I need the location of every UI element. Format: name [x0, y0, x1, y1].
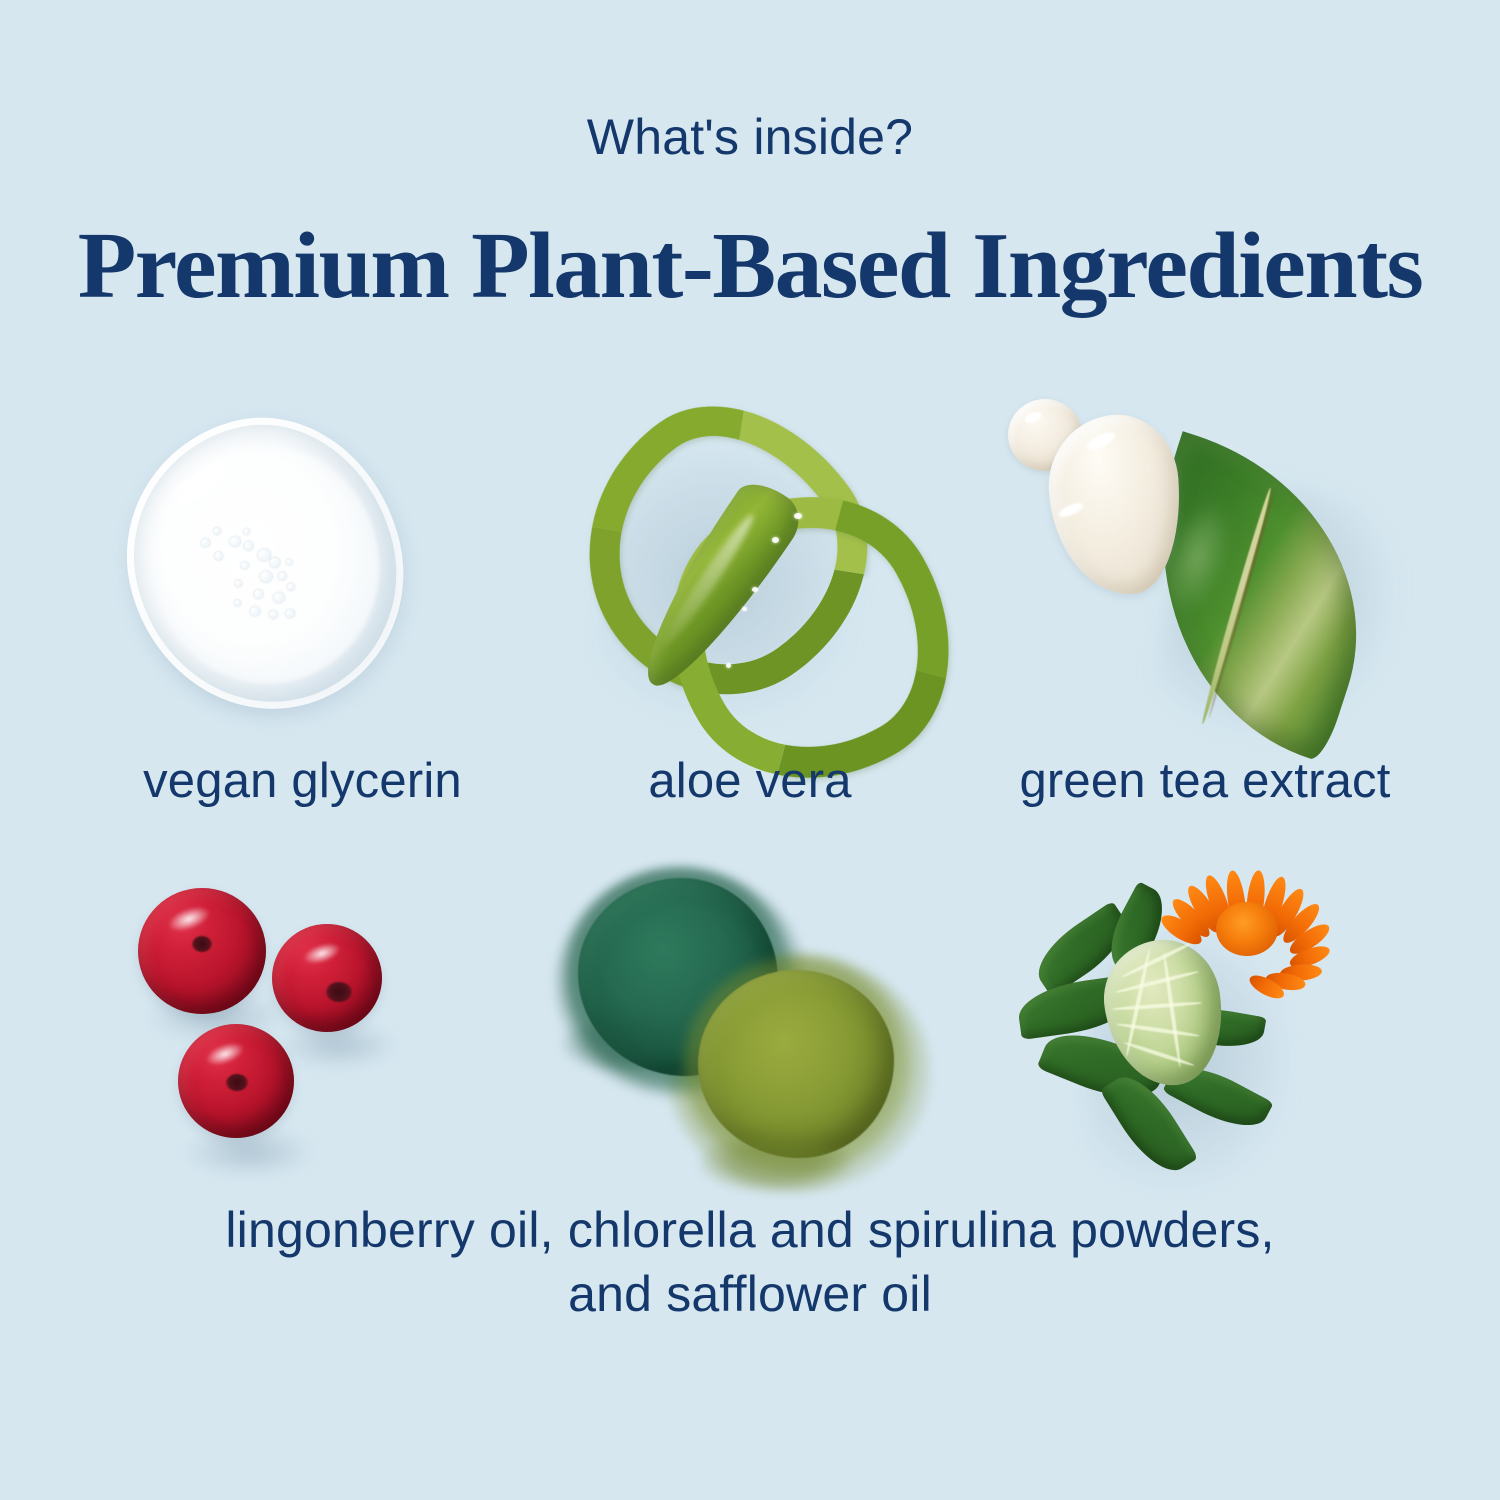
ingredient-label-vegan-glycerin: vegan glycerin	[65, 753, 540, 809]
ingredient-row-1: vegan glycerin	[0, 385, 1500, 855]
ingredient-cell-aloe-vera: aloe vera	[540, 385, 960, 855]
glycerin-gel-drop-icon	[65, 385, 540, 725]
caption-line-2: and safflower oil	[70, 1262, 1430, 1326]
ingredient-label-aloe-vera: aloe vera	[540, 753, 960, 809]
page-title: Premium Plant-Based Ingredients	[0, 212, 1500, 320]
eyebrow-text: What's inside?	[0, 108, 1500, 166]
lingonberries-icon	[65, 862, 540, 1202]
green-tea-leaf-with-oil-drops-icon	[960, 385, 1450, 725]
ingredient-cell-green-tea-extract: green tea extract	[960, 385, 1450, 855]
safflower-bud-and-bloom-icon	[960, 862, 1450, 1202]
ingredient-cell-vegan-glycerin: vegan glycerin	[65, 385, 540, 855]
ingredients-caption: lingonberry oil, chlorella and spirulina…	[70, 1198, 1430, 1326]
ingredient-label-green-tea-extract: green tea extract	[960, 753, 1450, 809]
chlorella-and-spirulina-powders-icon	[540, 862, 960, 1202]
ingredients-infographic: What's inside? Premium Plant-Based Ingre…	[0, 0, 1500, 1500]
aloe-leaf-strips-icon	[540, 385, 960, 725]
caption-line-1: lingonberry oil, chlorella and spirulina…	[70, 1198, 1430, 1262]
